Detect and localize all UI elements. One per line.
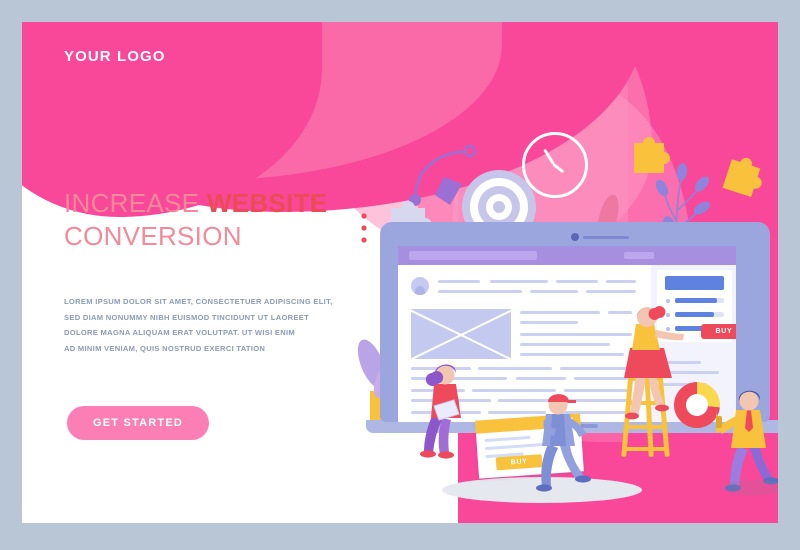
landing-page-illustration: YOUR LOGO INCREASE WEBSITE CONVERSION LO…	[0, 0, 800, 550]
landing-page-card: YOUR LOGO INCREASE WEBSITE CONVERSION LO…	[22, 22, 778, 523]
image-placeholder	[411, 309, 511, 359]
headline-part-1: INCREASE	[64, 188, 207, 218]
headline-part-2: CONVERSION	[64, 221, 242, 251]
body-line: DOLORE MAGNA ALIQUAM ERAT VOLUTPAT. UT W…	[64, 325, 354, 341]
body-line: AD MINIM VENIAM, QUIS NOSTRUD EXERCI TAT…	[64, 341, 354, 357]
headline-emphasis: WEBSITE	[207, 188, 328, 218]
lid-hinge-line	[583, 236, 629, 239]
page-title: INCREASE WEBSITE CONVERSION	[64, 187, 394, 253]
get-started-button[interactable]: GET STARTED	[67, 406, 209, 440]
clock-icon	[522, 132, 588, 198]
character-shadow	[722, 480, 778, 496]
webcam-icon	[571, 233, 579, 241]
body-paragraph: LOREM IPSUM DOLOR SIT AMET, CONSECTETUER…	[64, 294, 354, 356]
buy-button-sidebar[interactable]: BUY	[701, 324, 736, 339]
man-with-megaphone	[716, 384, 778, 494]
puzzle-piece-icon	[714, 150, 776, 214]
browser-nav-bar	[398, 246, 736, 265]
body-line: SED DIAM NONUMMY NIBH EUISMOD TINCIDUNT …	[64, 310, 354, 326]
man-carrying-card	[530, 388, 598, 494]
seated-woman-reading	[418, 358, 484, 460]
body-line: LOREM IPSUM DOLOR SIT AMET, CONSECTETUER…	[64, 294, 354, 310]
sidebar-header-bar	[665, 276, 724, 290]
logo-text: YOUR LOGO	[64, 48, 166, 65]
woman-on-ladder	[614, 304, 684, 422]
dot-column-icon	[360, 212, 370, 252]
browser-action-button[interactable]	[624, 252, 654, 259]
list-bullet-icon	[666, 299, 670, 303]
avatar	[411, 277, 429, 295]
browser-address-bar[interactable]	[409, 251, 537, 260]
progress-fill	[675, 298, 717, 303]
